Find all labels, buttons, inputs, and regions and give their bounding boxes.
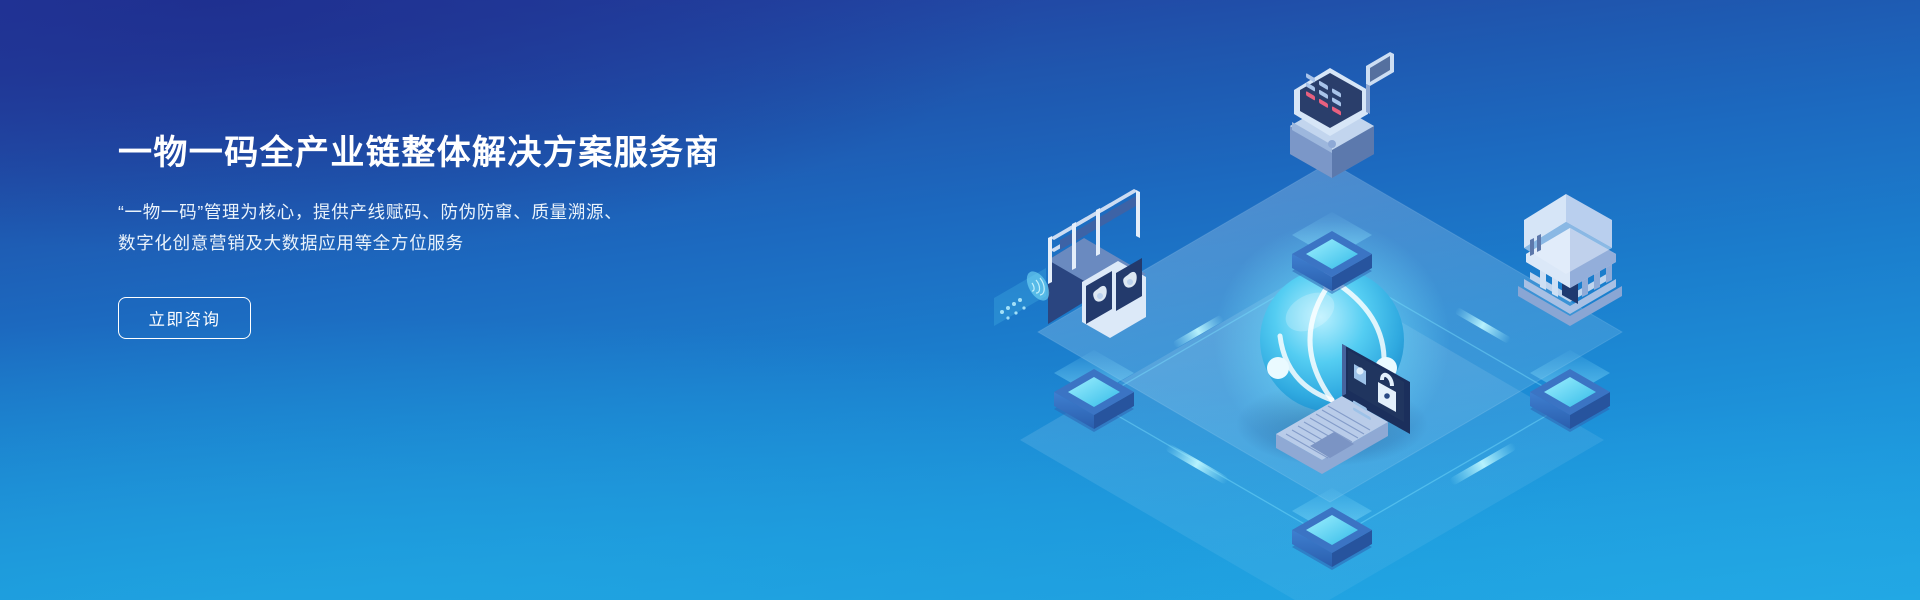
fingerprint-scan-beam: [994, 268, 1054, 326]
hero-copy: 一物一码全产业链整体解决方案服务商 “一物一码”管理为核心，提供产线赋码、防伪防…: [118, 132, 758, 339]
page-title: 一物一码全产业链整体解决方案服务商: [118, 132, 758, 175]
isometric-illustration: [880, 0, 1780, 600]
hero-subtitle-line-1: “一物一码”管理为核心，提供产线赋码、防伪防窜、质量溯源、: [118, 197, 758, 228]
hero-subtitle: “一物一码”管理为核心，提供产线赋码、防伪防窜、质量溯源、 数字化创意营销及大数…: [118, 197, 758, 259]
node-server-rack: [994, 189, 1146, 432]
pos-terminal-icon: [1290, 52, 1394, 178]
hero-subtitle-line-2: 数字化创意营销及大数据应用等全方位服务: [118, 228, 758, 259]
hero-banner: 一物一码全产业链整体解决方案服务商 “一物一码”管理为核心，提供产线赋码、防伪防…: [0, 0, 1920, 600]
consult-now-button[interactable]: 立即咨询: [118, 297, 251, 339]
